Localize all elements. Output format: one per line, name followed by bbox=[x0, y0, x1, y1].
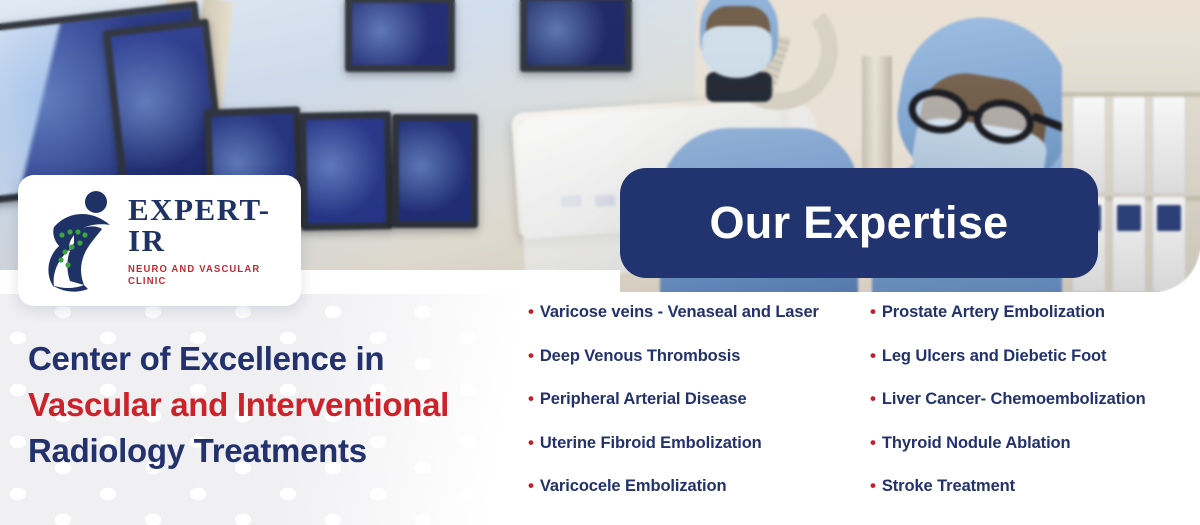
headline-line-3: Radiology Treatments bbox=[28, 428, 449, 474]
service-item-label: Deep Venous Thrombosis bbox=[540, 347, 740, 366]
clinic-banner: 00:00 ▁▁▁ ▁▁▁▁ bbox=[0, 0, 1200, 525]
bullet-icon: • bbox=[528, 477, 534, 494]
service-item[interactable]: •Thyroid Nodule Ablation bbox=[870, 434, 1188, 478]
service-item-label: Peripheral Arterial Disease bbox=[540, 390, 747, 409]
service-item-label: Uterine Fibroid Embolization bbox=[540, 434, 762, 453]
logo-card[interactable]: EXPERT-IR NEURO AND VASCULAR CLINIC bbox=[18, 175, 301, 306]
service-item[interactable]: •Varicocele Embolization bbox=[528, 477, 870, 521]
logo-title: EXPERT-IR bbox=[128, 194, 301, 256]
service-item[interactable]: • Liver Cancer- Chemoembolization bbox=[870, 390, 1188, 434]
service-item-label: Prostate Artery Embolization bbox=[882, 303, 1105, 322]
service-item[interactable]: • Deep Venous Thrombosis bbox=[528, 347, 870, 391]
service-item[interactable]: •Peripheral Arterial Disease bbox=[528, 390, 870, 434]
service-item[interactable]: •Stroke Treatment bbox=[870, 477, 1188, 521]
service-item-label: Thyroid Nodule Ablation bbox=[882, 434, 1071, 453]
service-item-label: Varicose veins - Venaseal and Laser bbox=[540, 303, 819, 322]
bullet-icon: • bbox=[870, 477, 876, 494]
bullet-icon: • bbox=[870, 303, 876, 320]
our-expertise-banner: Our Expertise bbox=[620, 168, 1098, 278]
service-item[interactable]: •Uterine Fibroid Embolization bbox=[528, 434, 870, 478]
bullet-icon: • bbox=[528, 347, 534, 364]
bullet-icon: • bbox=[870, 434, 876, 451]
bullet-icon: • bbox=[528, 434, 534, 451]
logo-subtitle: NEURO AND VASCULAR CLINIC bbox=[128, 263, 284, 287]
page-title: Center of Excellence in Vascular and Int… bbox=[28, 336, 449, 474]
headline-line-2: Vascular and Interventional bbox=[28, 382, 449, 428]
headline-line-1: Center of Excellence in bbox=[28, 336, 449, 382]
service-item[interactable]: •Leg Ulcers and Diebetic Foot bbox=[870, 347, 1188, 391]
service-item[interactable]: •Varicose veins - Venaseal and Laser bbox=[528, 303, 870, 347]
service-item-label: Liver Cancer- Chemoembolization bbox=[882, 390, 1146, 409]
expert-ir-logo-icon bbox=[40, 189, 126, 293]
bullet-icon: • bbox=[870, 347, 876, 364]
bullet-icon: • bbox=[528, 390, 534, 407]
service-item-label: Leg Ulcers and Diebetic Foot bbox=[882, 347, 1107, 366]
logo-wordmark: EXPERT-IR NEURO AND VASCULAR CLINIC bbox=[128, 194, 301, 287]
our-expertise-title: Our Expertise bbox=[709, 197, 1008, 249]
service-item[interactable]: •Prostate Artery Embolization bbox=[870, 303, 1188, 347]
bullet-icon: • bbox=[870, 390, 876, 407]
services-list: •Varicose veins - Venaseal and Laser• De… bbox=[528, 303, 1188, 521]
services-column-right: •Prostate Artery Embolization•Leg Ulcers… bbox=[870, 303, 1188, 521]
services-column-left: •Varicose veins - Venaseal and Laser• De… bbox=[528, 303, 870, 521]
service-item-label: Stroke Treatment bbox=[882, 477, 1015, 496]
bullet-icon: • bbox=[528, 303, 534, 320]
service-item-label: Varicocele Embolization bbox=[540, 477, 727, 496]
